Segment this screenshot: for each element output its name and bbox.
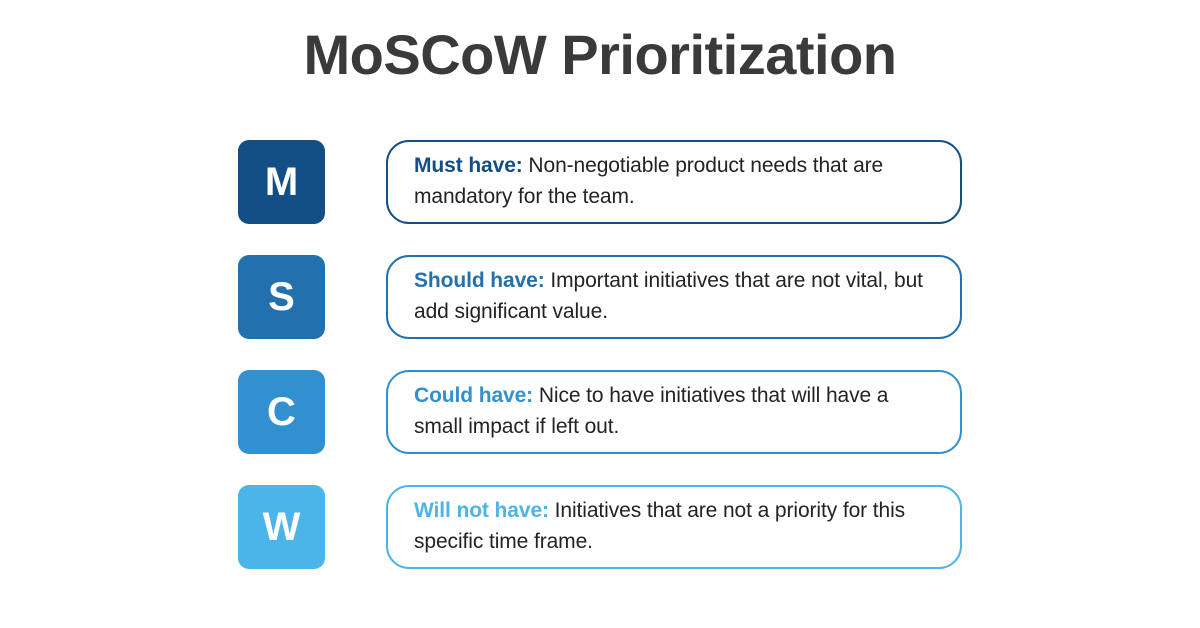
badge-letter: W [263, 507, 301, 547]
moscow-prioritization-infographic: MoSCoW Prioritization M Must have: Non-n… [0, 0, 1200, 628]
priority-card-text: Must have: Non-negotiable product needs … [414, 150, 934, 212]
priority-card-s: Should have: Important initiatives that … [386, 255, 962, 339]
priority-card-m: Must have: Non-negotiable product needs … [386, 140, 962, 224]
row-spacer [325, 140, 386, 224]
priority-card-label: Should have: [414, 269, 545, 292]
priority-card-text: Should have: Important initiatives that … [414, 265, 934, 327]
priority-row: C Could have: Nice to have initiatives t… [238, 370, 962, 454]
priority-card-text: Could have: Nice to have initiatives tha… [414, 380, 934, 442]
priority-card-label: Could have: [414, 384, 533, 407]
priority-badge-s: S [238, 255, 325, 339]
priority-card-label: Will not have: [414, 499, 549, 522]
priority-badge-w: W [238, 485, 325, 569]
priority-row: M Must have: Non-negotiable product need… [238, 140, 962, 224]
badge-letter: S [268, 277, 295, 317]
priority-badge-c: C [238, 370, 325, 454]
badge-letter: C [267, 392, 296, 432]
row-spacer [325, 485, 386, 569]
priority-row-list: M Must have: Non-negotiable product need… [238, 140, 962, 569]
row-spacer [325, 255, 386, 339]
priority-card-label: Must have: [414, 154, 523, 177]
page-title: MoSCoW Prioritization [0, 24, 1200, 86]
priority-card-w: Will not have: Initiatives that are not … [386, 485, 962, 569]
priority-card-c: Could have: Nice to have initiatives tha… [386, 370, 962, 454]
priority-card-text: Will not have: Initiatives that are not … [414, 495, 934, 557]
badge-letter: M [265, 162, 298, 202]
priority-row: W Will not have: Initiatives that are no… [238, 485, 962, 569]
priority-badge-m: M [238, 140, 325, 224]
priority-row: S Should have: Important initiatives tha… [238, 255, 962, 339]
row-spacer [325, 370, 386, 454]
